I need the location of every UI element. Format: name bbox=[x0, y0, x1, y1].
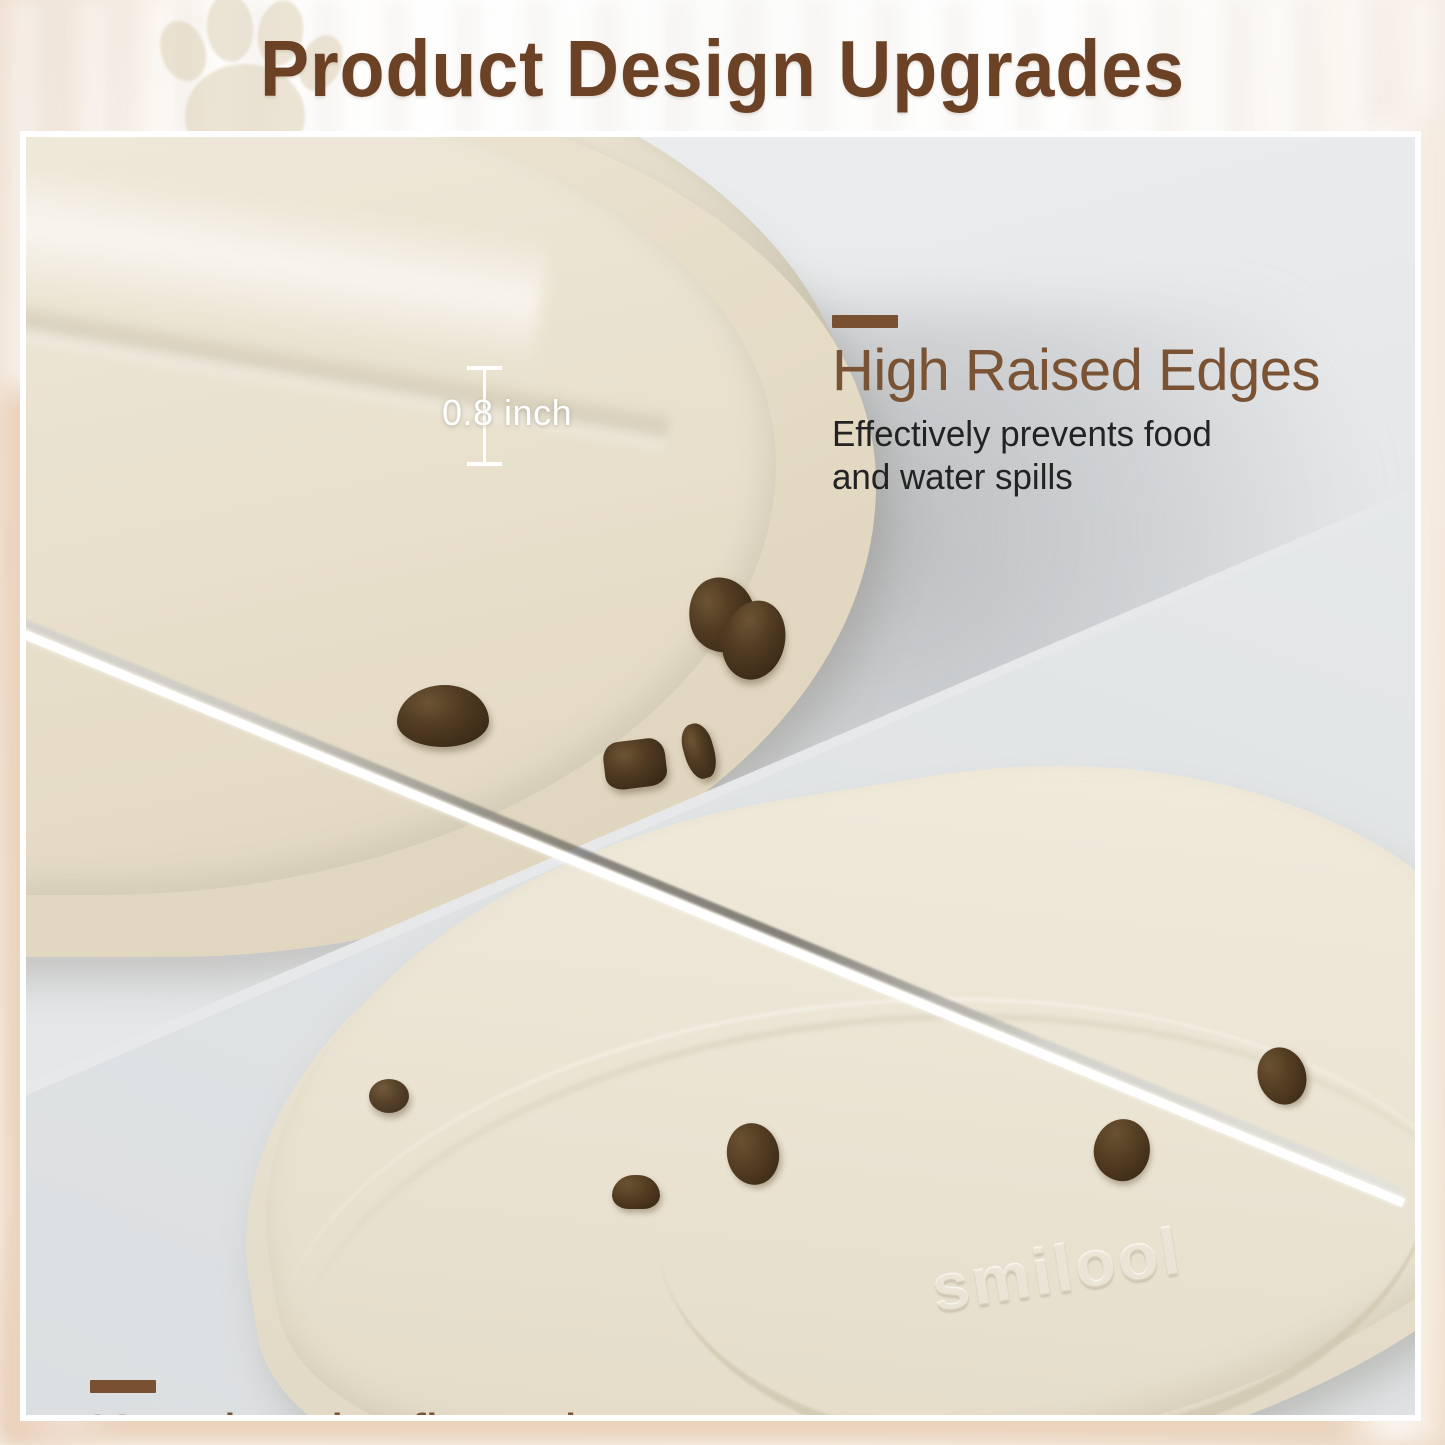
kibble-piece bbox=[612, 1175, 660, 1209]
page-title: Product Design Upgrades bbox=[58, 0, 1387, 137]
dash-accent-icon bbox=[832, 315, 898, 328]
feature-title: High Raised Edges bbox=[832, 340, 1415, 401]
product-infographic: Product Design Upgrades smilool bbox=[0, 0, 1445, 1445]
product-photo-panel: smilool 0.8 inch High Raised Edges Effec… bbox=[26, 137, 1415, 1415]
feature-subtitle-line: Effectively prevents food bbox=[832, 413, 1414, 455]
dimension-cap-bottom-icon bbox=[467, 462, 502, 466]
dimension-label: 0.8 inch bbox=[442, 392, 612, 434]
header: Product Design Upgrades bbox=[0, 0, 1445, 137]
feature-subtitle-line: and water spills bbox=[832, 456, 1414, 498]
feature-keeping-the-floor-clean: Keeping the floor clean Minimizes time s… bbox=[90, 1380, 1270, 1415]
feature-title: Keeping the floor clean bbox=[90, 1405, 1270, 1415]
dash-accent-icon bbox=[90, 1380, 156, 1393]
dimension-callout: 0.8 inch bbox=[442, 362, 612, 472]
dimension-cap-top-icon bbox=[467, 366, 502, 370]
kibble-piece bbox=[369, 1079, 409, 1113]
feature-high-raised-edges: High Raised Edges Effectively prevents f… bbox=[832, 315, 1415, 498]
feature-subtitle: Effectively prevents food and water spil… bbox=[832, 413, 1414, 498]
kibble-piece bbox=[601, 736, 668, 791]
